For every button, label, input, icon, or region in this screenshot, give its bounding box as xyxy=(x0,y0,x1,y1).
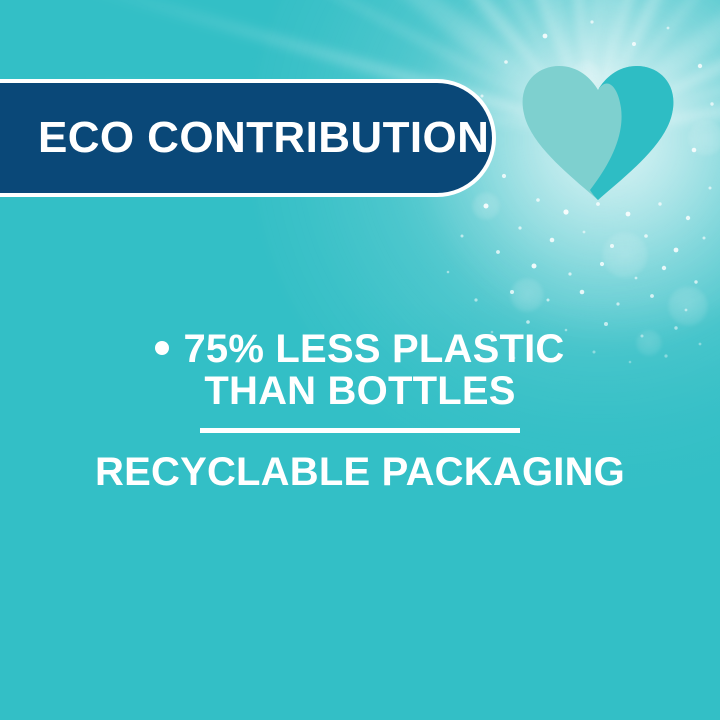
benefit-primary-line-2: THAN BOTTLES xyxy=(204,369,515,413)
bullet-dot-icon xyxy=(155,341,169,355)
divider xyxy=(200,428,520,433)
page-title: ECO CONTRIBUTION xyxy=(38,116,489,160)
bokeh-circle xyxy=(602,232,648,278)
eco-contribution-panel: ECO CONTRIBUTION 75% LESS PLASTICTHAN BO… xyxy=(0,0,720,720)
heart-icon xyxy=(521,64,675,200)
benefit-primary: 75% LESS PLASTICTHAN BOTTLES xyxy=(155,328,564,412)
benefits-block: 75% LESS PLASTICTHAN BOTTLES RECYCLABLE … xyxy=(0,328,720,493)
benefit-primary-line-1: 75% LESS PLASTIC xyxy=(183,327,564,371)
bokeh-circle xyxy=(688,120,720,156)
bokeh-circle xyxy=(472,192,500,220)
eco-contribution-banner: ECO CONTRIBUTION xyxy=(0,79,496,197)
benefit-secondary: RECYCLABLE PACKAGING xyxy=(95,451,625,493)
